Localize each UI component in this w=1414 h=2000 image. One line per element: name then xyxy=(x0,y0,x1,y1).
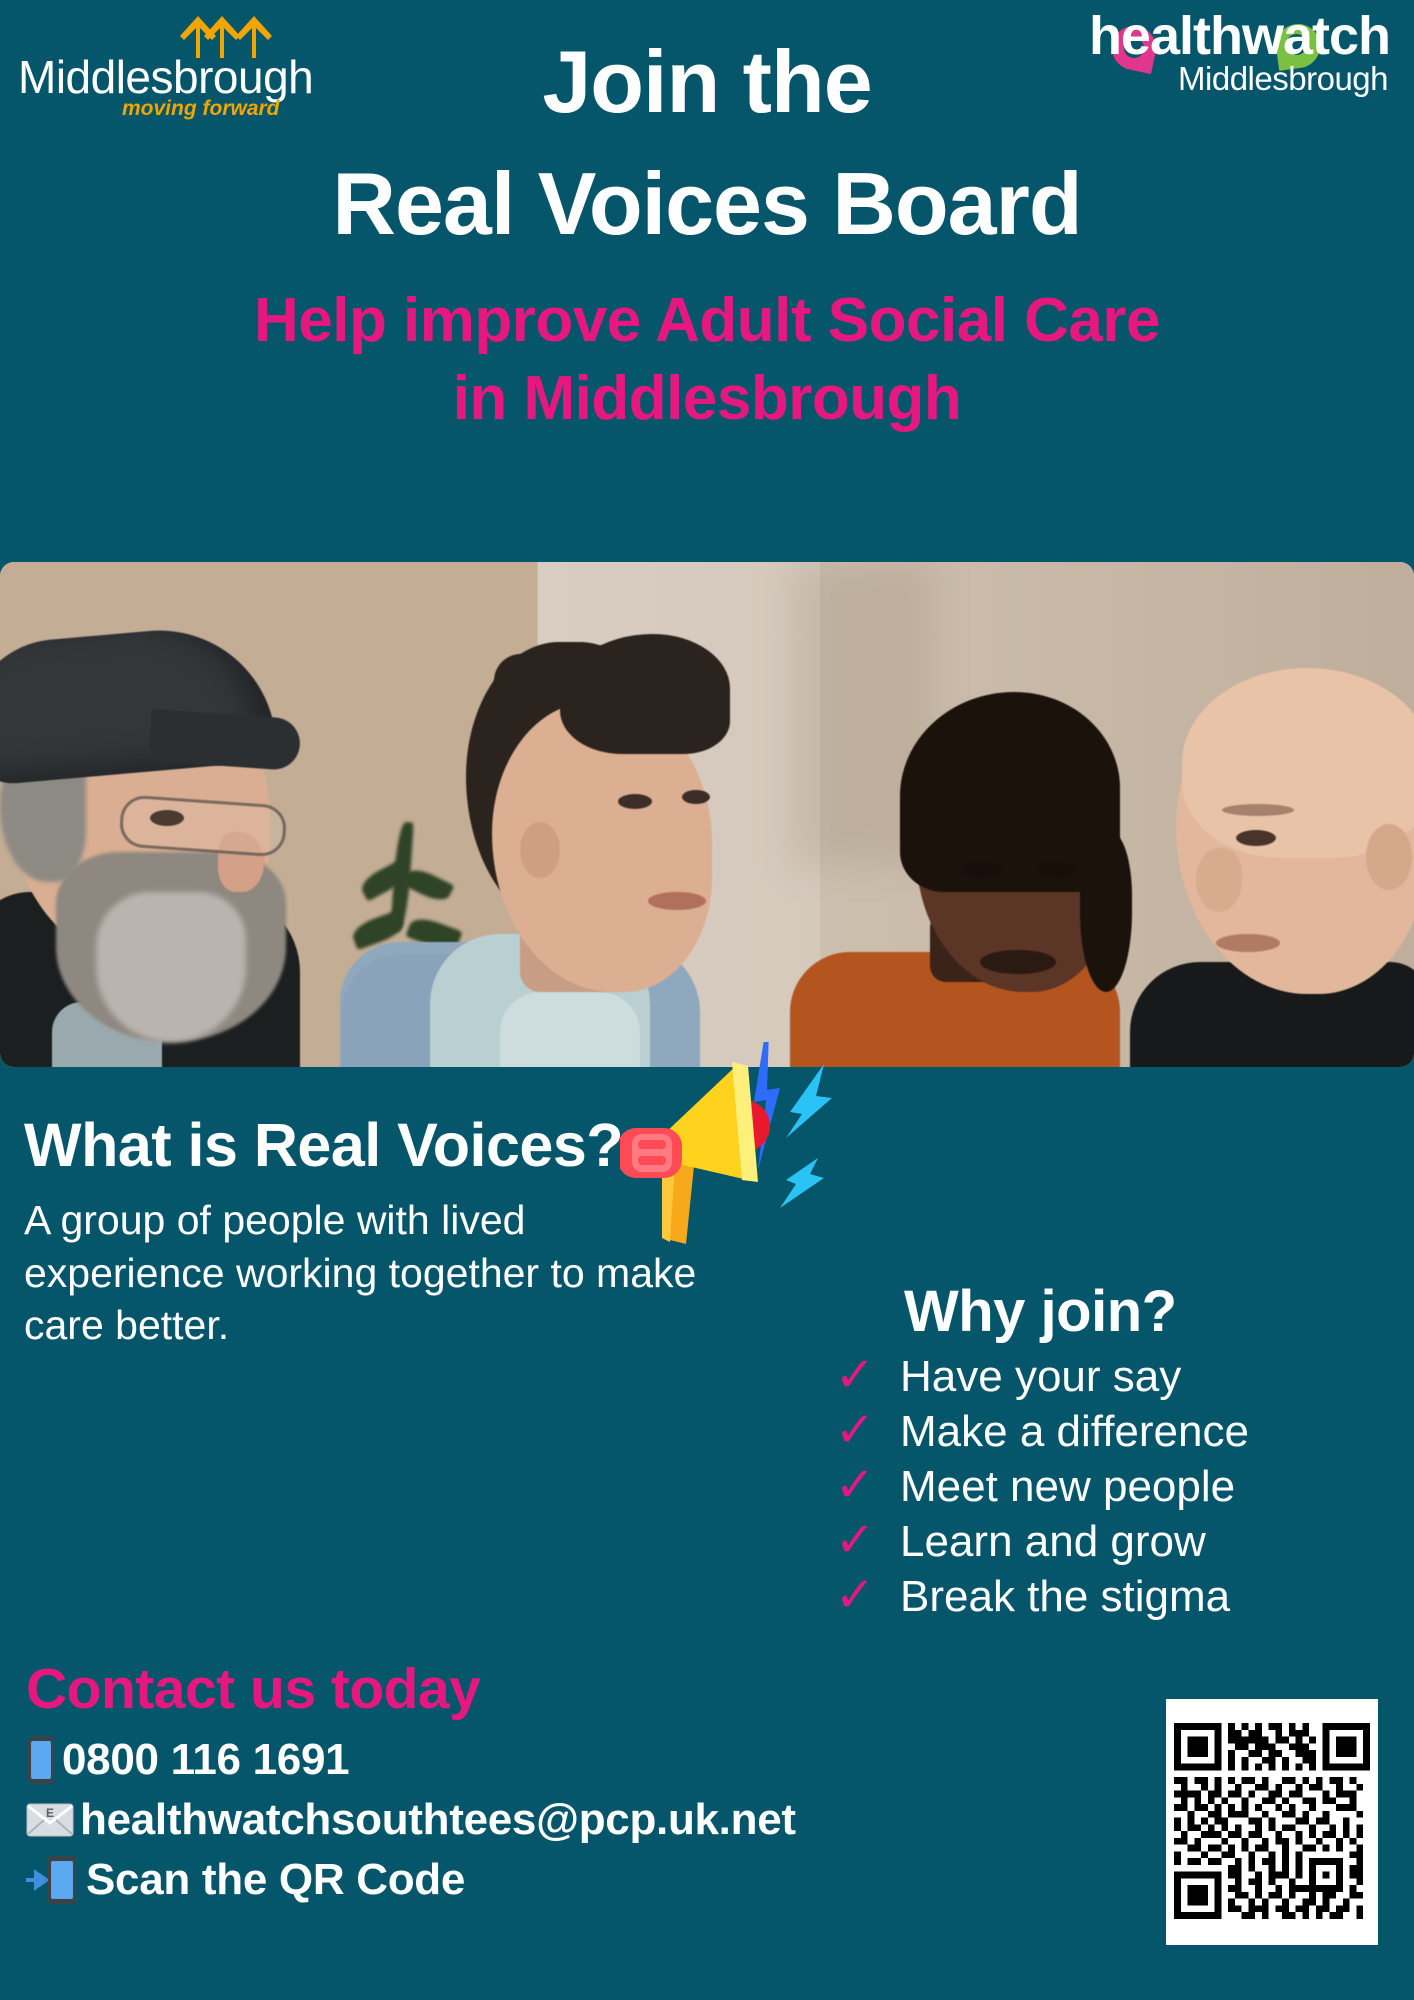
mobile-phone-icon xyxy=(26,1735,56,1785)
photo-person-3-mouth xyxy=(980,950,1056,974)
what-is-real-voices-heading: What is Real Voices? xyxy=(24,1108,704,1182)
contact-heading: Contact us today xyxy=(26,1658,926,1721)
contact-section: Contact us today 0800 116 1691 E healthw… xyxy=(26,1658,926,1915)
qr-code-matrix xyxy=(1174,1723,1370,1919)
list-item: ✓ Break the stigma xyxy=(826,1571,1414,1623)
megaphone-icon xyxy=(620,1042,880,1262)
contact-row-scan[interactable]: Scan the QR Code xyxy=(26,1855,926,1905)
why-join-item-label: Learn and grow xyxy=(900,1516,1206,1568)
megaphone-bolt-mid-icon xyxy=(786,1064,832,1138)
megaphone-grip-line-2 xyxy=(638,1156,666,1165)
what-is-real-voices-body: A group of people with lived experience … xyxy=(24,1194,704,1351)
contact-phone-number: 0800 116 1691 xyxy=(62,1735,349,1785)
what-is-real-voices-section: What is Real Voices? A group of people w… xyxy=(24,1108,704,1352)
contact-scan-label: Scan the QR Code xyxy=(86,1855,465,1905)
email-envelope-icon: E xyxy=(26,1800,74,1840)
photo-person-2-lips xyxy=(648,892,706,910)
photo-person-4-nose xyxy=(1196,848,1242,912)
poster-title-line-2: Real Voices Board xyxy=(0,160,1414,248)
healthwatch-wordmark: healthwatch xyxy=(1089,8,1390,65)
group-discussion-photo xyxy=(0,562,1414,1067)
why-join-item-label: Break the stigma xyxy=(900,1571,1230,1623)
svg-text:E: E xyxy=(46,1806,54,1820)
contact-row-phone[interactable]: 0800 116 1691 xyxy=(26,1735,926,1785)
check-mark-icon: ✓ xyxy=(826,1407,884,1455)
qr-code-icon[interactable] xyxy=(1166,1699,1378,1945)
photo-person-4-mouth xyxy=(1216,934,1280,952)
check-mark-icon: ✓ xyxy=(826,1462,884,1510)
poster-header: Middlesbrough moving forward healthwatch… xyxy=(0,0,1414,562)
check-mark-icon: ✓ xyxy=(826,1352,884,1400)
photo-person-4-eye xyxy=(1236,830,1276,846)
photo-person-4-eyebrow xyxy=(1222,804,1294,816)
why-join-item-label: Meet new people xyxy=(900,1461,1235,1513)
poster-subtitle-line-1: Help improve Adult Social Care xyxy=(0,282,1414,360)
list-item: ✓ Have your say xyxy=(826,1351,1414,1403)
poster-subtitle: Help improve Adult Social Care in Middle… xyxy=(0,282,1414,437)
healthwatch-wordmark-text: healthwatch xyxy=(1089,6,1390,66)
why-join-section: Why join? ✓ Have your say ✓ Make a diffe… xyxy=(826,1282,1414,1625)
photo-person-4-ear xyxy=(1366,824,1412,890)
megaphone-grip-line-1 xyxy=(638,1140,666,1149)
photo-person-2-eye-right xyxy=(682,790,710,804)
contact-email-address: healthwatchsouthtees@pcp.uk.net xyxy=(80,1795,796,1845)
why-join-item-label: Have your say xyxy=(900,1351,1181,1403)
contact-row-email[interactable]: E healthwatchsouthtees@pcp.uk.net xyxy=(26,1795,926,1845)
photo-person-3-locs xyxy=(1080,832,1132,992)
why-join-item-label: Make a difference xyxy=(900,1406,1249,1458)
photo-person-2-ear xyxy=(520,822,560,878)
photo-person-2-inner-top xyxy=(500,992,640,1067)
scan-phone-icon xyxy=(26,1855,80,1905)
megaphone-grip-inner xyxy=(632,1134,672,1172)
list-item: ✓ Make a difference xyxy=(826,1406,1414,1458)
check-mark-icon: ✓ xyxy=(826,1572,884,1620)
why-join-list: ✓ Have your say ✓ Make a difference ✓ Me… xyxy=(826,1351,1414,1623)
photo-person-3-eye-left xyxy=(962,862,1002,878)
list-item: ✓ Learn and grow xyxy=(826,1516,1414,1568)
photo-person-1-cap-brim xyxy=(148,709,301,771)
poster-subtitle-line-2: in Middlesbrough xyxy=(0,360,1414,438)
photo-person-1-beard-highlight xyxy=(96,892,246,1042)
photo-person-3-eye-right xyxy=(1038,862,1076,878)
megaphone-bolt-bottom-icon xyxy=(780,1158,824,1208)
check-mark-icon: ✓ xyxy=(826,1517,884,1565)
why-join-heading: Why join? xyxy=(904,1282,1414,1343)
photo-person-2-eye-left xyxy=(618,794,652,809)
list-item: ✓ Meet new people xyxy=(826,1461,1414,1513)
poster-root: Middlesbrough moving forward healthwatch… xyxy=(0,0,1414,2000)
photo-person-1-eye xyxy=(150,810,184,826)
photo-person-2-hair-bun xyxy=(494,654,548,708)
